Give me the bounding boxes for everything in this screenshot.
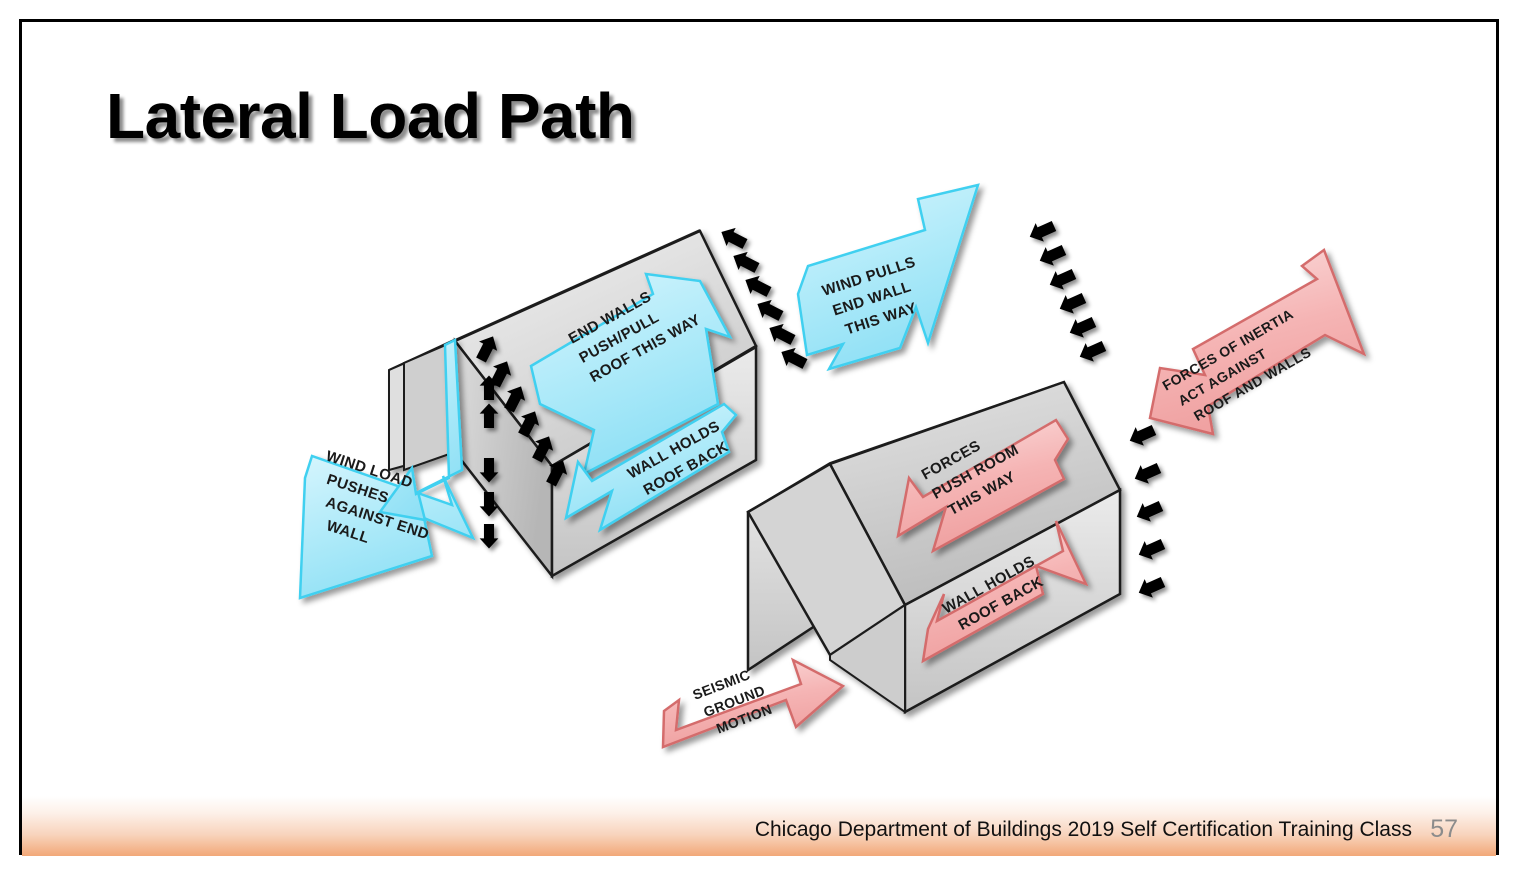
suction-arrow-icon bbox=[741, 271, 774, 301]
page-number: 57 bbox=[1430, 815, 1458, 844]
slide-canvas: Lateral Load Path bbox=[0, 0, 1522, 878]
suction-arrow-icon bbox=[729, 247, 762, 277]
inertia-arrow-icon bbox=[1056, 289, 1088, 318]
inertia-arrow-icon bbox=[1036, 241, 1068, 270]
inertia-arrow-icon bbox=[1076, 337, 1108, 366]
suction-arrow-icon bbox=[753, 295, 786, 325]
inertia-arrow-icon bbox=[1135, 535, 1167, 564]
inertia-arrow-icon bbox=[1066, 313, 1098, 342]
inertia-arrow-icon bbox=[1133, 497, 1165, 526]
inertia-arrow-icon bbox=[1131, 459, 1163, 488]
suction-arrow-icon bbox=[717, 223, 750, 253]
pressure-arrow-icon bbox=[480, 524, 499, 548]
inertia-arrow-icon bbox=[1046, 265, 1078, 294]
arrow-seismic-ground-motion bbox=[663, 660, 843, 747]
footer-text: Chicago Department of Buildings 2019 Sel… bbox=[755, 818, 1412, 842]
lateral-load-path-diagram: WIND LOAD PUSHES AGAINST END WALL END WA… bbox=[0, 0, 1522, 878]
inertia-arrow-icon bbox=[1135, 573, 1167, 602]
inertia-arrow-icon bbox=[1126, 421, 1158, 450]
suction-arrow-icon bbox=[765, 319, 798, 349]
inertia-arrow-icon bbox=[1026, 217, 1058, 246]
